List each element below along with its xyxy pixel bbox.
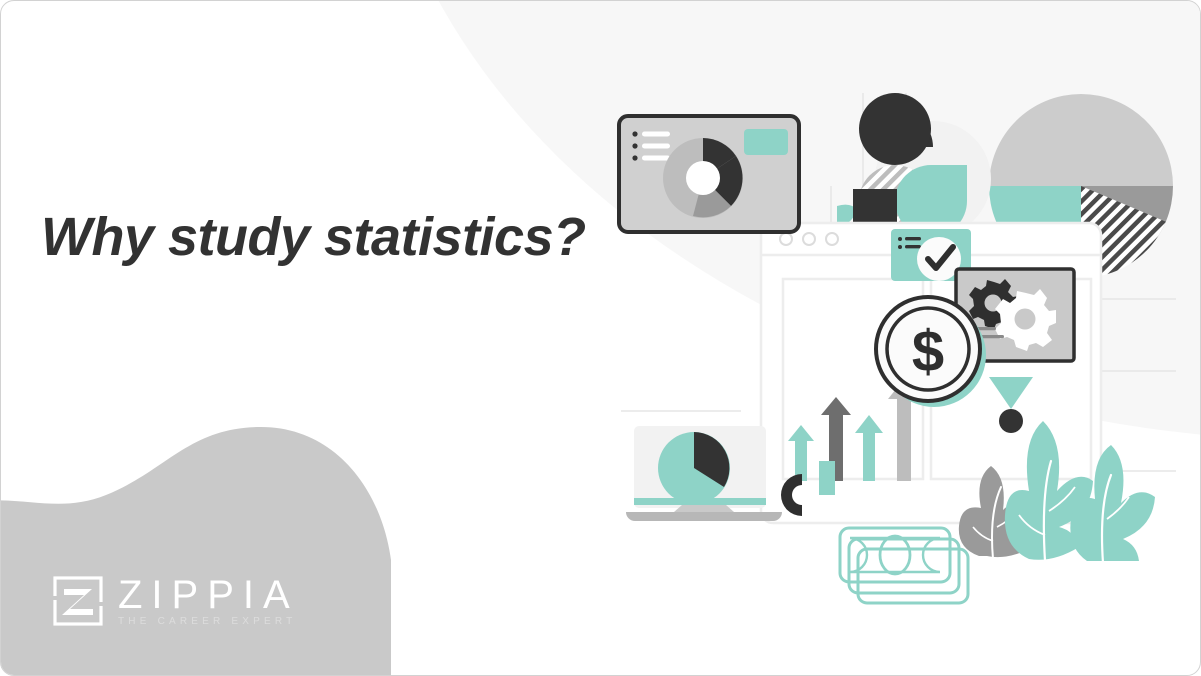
donut-chart-card: [619, 116, 799, 232]
zippia-logo-text: ZIPPIA THE CAREER EXPERT: [118, 575, 299, 627]
logo-wordmark: ZIPPIA: [118, 575, 299, 615]
slide-canvas: Why study statistics? ZIPPIA THE CAREER …: [0, 0, 1201, 676]
donut-chart: [663, 138, 743, 218]
svg-text:$: $: [912, 319, 944, 384]
laptop-pie: [626, 426, 782, 521]
zippia-logo: ZIPPIA THE CAREER EXPERT: [53, 575, 299, 627]
background-blob: [0, 385, 391, 676]
banknotes: [840, 528, 968, 603]
zippia-logo-icon: [53, 576, 103, 626]
statistics-dashboard-illustration: $: [601, 41, 1181, 641]
page-title: Why study statistics?: [41, 206, 586, 268]
teal-rect-small: [819, 461, 835, 495]
logo-tagline: THE CAREER EXPERT: [118, 617, 299, 627]
